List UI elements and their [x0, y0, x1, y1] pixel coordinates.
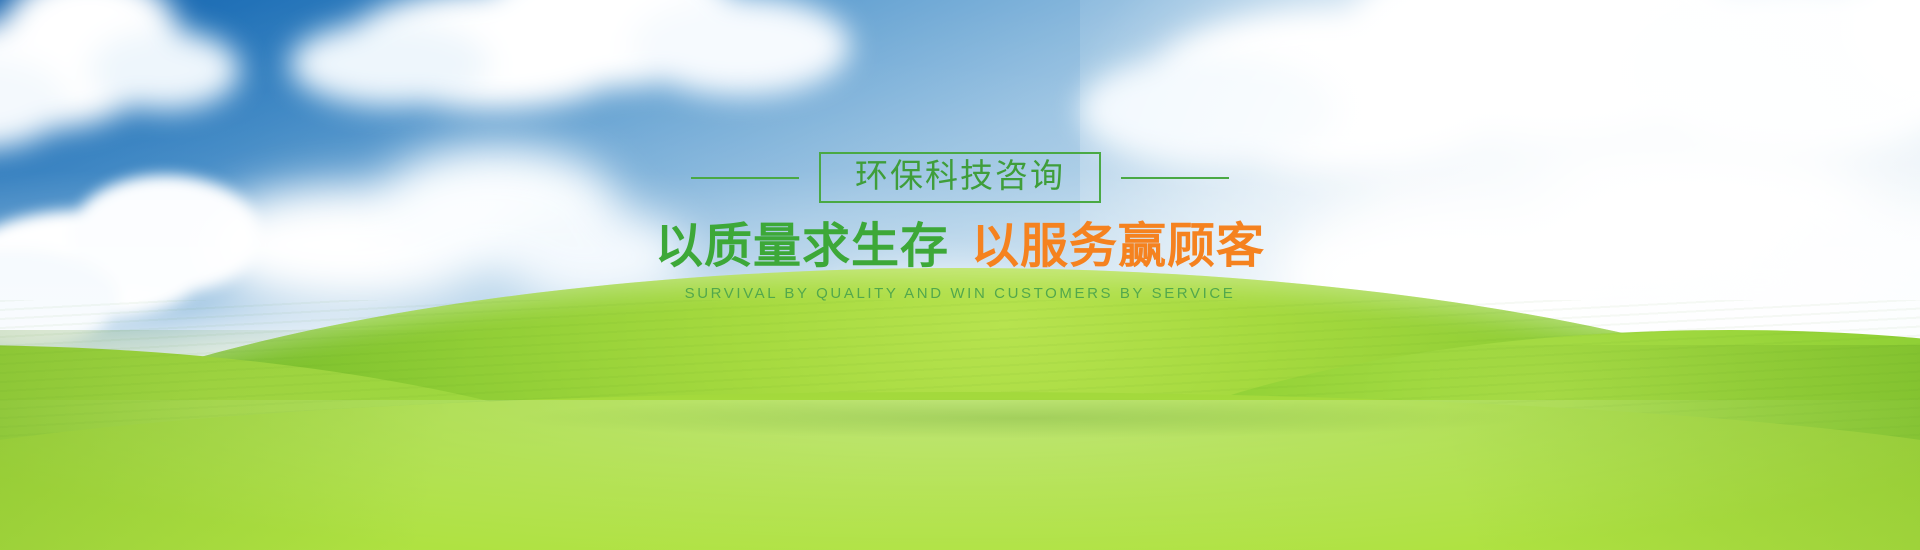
- category-label-text: 环保科技咨询: [855, 159, 1065, 192]
- subtitle-text: SURVIVAL BY QUALITY AND WIN CUSTOMERS BY…: [685, 285, 1236, 302]
- headline-orange-text: 以服务赢顾客: [971, 218, 1265, 274]
- headline: 以质量求生存以服务赢顾客: [0, 222, 1920, 270]
- subtitle: SURVIVAL BY QUALITY AND WIN CUSTOMERS BY…: [0, 285, 1920, 303]
- category-label-box: 环保科技咨询: [819, 152, 1101, 203]
- decorative-rule-right: [1121, 177, 1229, 179]
- hero-banner: 环保科技咨询 以质量求生存以服务赢顾客 SURVIVAL BY QUALITY …: [0, 0, 1920, 550]
- banner-content: 环保科技咨询 以质量求生存以服务赢顾客 SURVIVAL BY QUALITY …: [0, 0, 1920, 550]
- decorative-rule-left: [691, 177, 799, 179]
- headline-green-text: 以质量求生存: [655, 218, 949, 274]
- label-row: 环保科技咨询: [0, 152, 1920, 203]
